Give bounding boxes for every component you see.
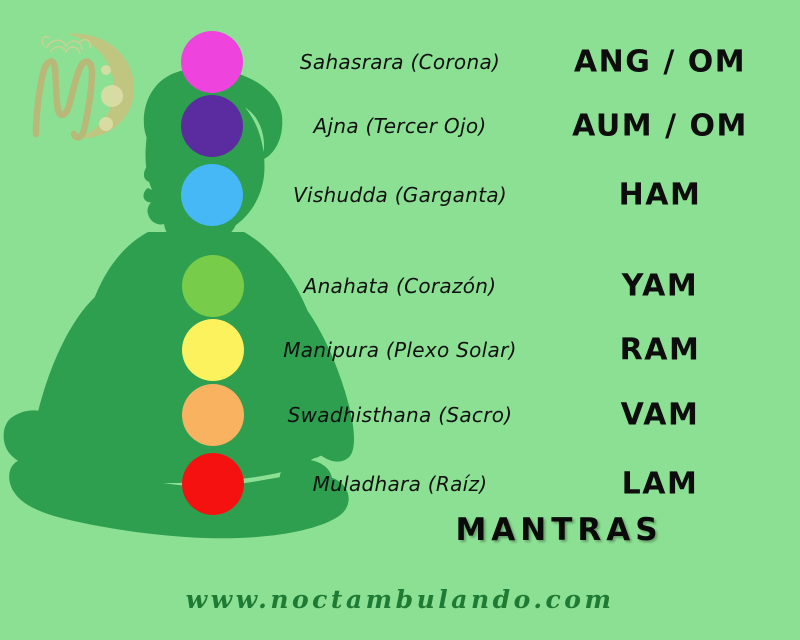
chakra-label-muladhara: Muladhara (Raíz) [250,472,550,496]
chakra-dot-anahata [182,255,244,317]
chakra-label-ajna: Ajna (Tercer Ojo) [250,114,550,138]
mantra-manipura: RAM [560,333,760,368]
mantra-muladhara: LAM [560,467,760,502]
chakra-dot-vishudda [181,164,243,226]
chakra-label-manipura: Manipura (Plexo Solar) [250,338,550,362]
chakra-dot-manipura [182,319,244,381]
mantra-vishudda: HAM [560,178,760,213]
mantra-sahasrara: ANG / OM [560,45,760,80]
mantra-swadhisthana: VAM [560,398,760,433]
chakra-label-swadhisthana: Swadhisthana (Sacro) [250,403,550,427]
chakra-label-sahasrara: Sahasrara (Corona) [250,50,550,74]
chakra-mantras-poster: Sahasrara (Corona) Ajna (Tercer Ojo) Vis… [0,0,800,640]
chakra-label-anahata: Anahata (Corazón) [250,274,550,298]
chakra-dot-ajna [181,95,243,157]
site-url: www.noctambulando.com [0,585,800,614]
mantras-heading: MANTRAS [429,512,689,548]
mantra-ajna: AUM / OM [560,109,760,144]
chakra-label-vishudda: Vishudda (Garganta) [250,183,550,207]
chakra-dot-muladhara [182,453,244,515]
chakra-dot-swadhisthana [182,384,244,446]
chakra-dot-sahasrara [181,31,243,93]
mantra-anahata: YAM [560,269,760,304]
